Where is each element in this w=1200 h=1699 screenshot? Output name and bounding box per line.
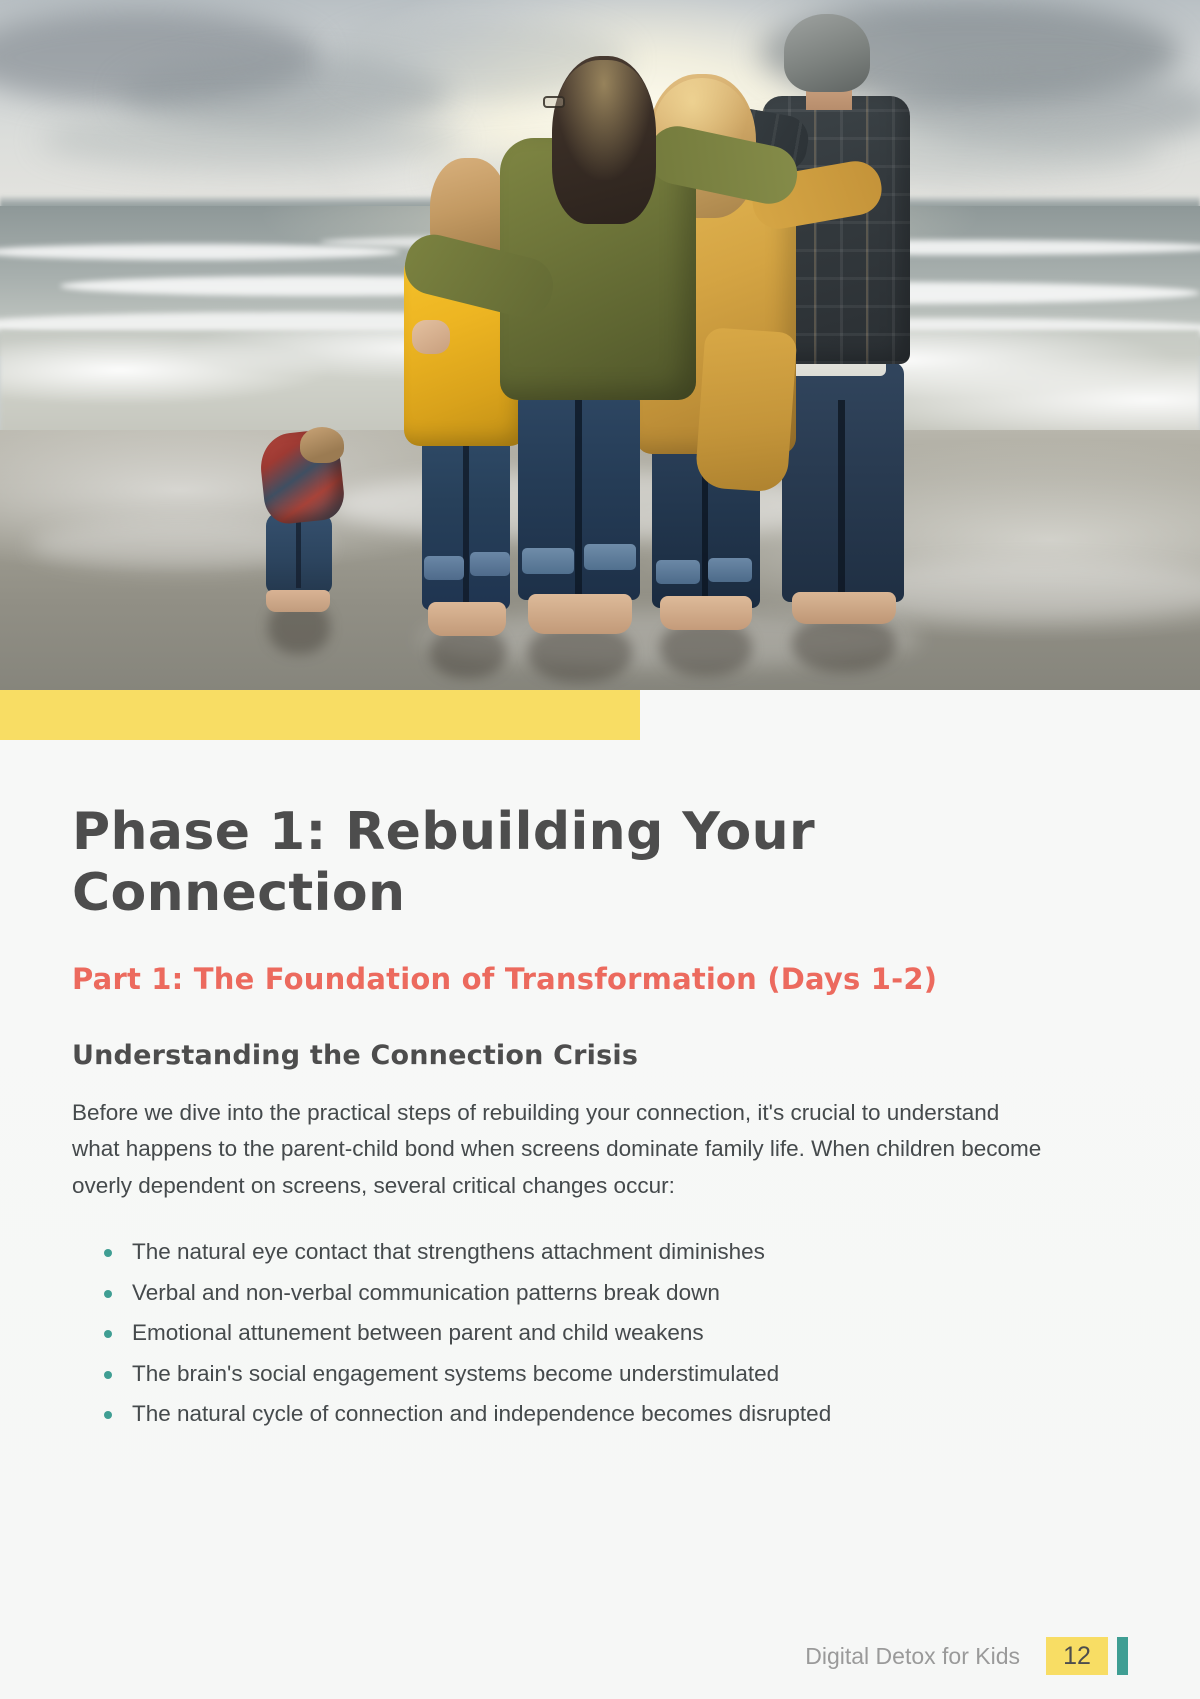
mother-leg-gap xyxy=(575,394,582,594)
girl-mustard-cuff-right xyxy=(708,558,752,582)
mother-feet xyxy=(528,594,632,634)
father-feet xyxy=(792,592,896,624)
girl-yellow-cuff-left xyxy=(424,556,464,580)
list-item: Emotional attunement between parent and … xyxy=(96,1315,1128,1351)
wave-crest xyxy=(0,244,400,260)
page-title: Phase 1: Rebuilding Your Connection xyxy=(72,802,1128,925)
list-item: The natural cycle of connection and inde… xyxy=(96,1396,1128,1432)
yellow-accent-bar xyxy=(0,690,640,740)
child-crouching-hair xyxy=(300,427,344,463)
page-subtitle: Part 1: The Foundation of Transformation… xyxy=(72,961,1128,998)
father-leg-gap xyxy=(838,400,845,596)
mother-hair-backlight xyxy=(556,60,652,180)
document-page: Phase 1: Rebuilding Your Connection Part… xyxy=(0,0,1200,1699)
mother-cuff-right xyxy=(584,544,636,570)
figure-reflection xyxy=(792,616,896,672)
father-hair xyxy=(784,14,870,92)
girl-mustard-cuff-left xyxy=(656,560,700,584)
child-crouching-leg-gap xyxy=(296,516,301,588)
list-item: The brain's social engagement systems be… xyxy=(96,1356,1128,1392)
girl-yellow-cuff-right xyxy=(470,552,510,576)
list-item: Verbal and non-verbal communication patt… xyxy=(96,1275,1128,1311)
page-number-badge: 12 xyxy=(1046,1637,1108,1675)
cloud-shape xyxy=(40,110,460,170)
section-heading: Understanding the Connection Crisis xyxy=(72,1038,1128,1073)
teal-accent-mark xyxy=(1117,1637,1128,1675)
body-paragraph: Before we dive into the practical steps … xyxy=(72,1095,1048,1204)
bullet-list: The natural eye contact that strengthens… xyxy=(96,1234,1128,1432)
mother-cuff-left xyxy=(522,548,574,574)
footer-book-title: Digital Detox for Kids xyxy=(805,1643,1020,1670)
girl-mustard-feet xyxy=(660,596,752,630)
mother-hand-left xyxy=(412,320,450,354)
mother-glasses xyxy=(543,96,565,108)
girl-yellow-leg-gap xyxy=(463,436,469,604)
page-content: Phase 1: Rebuilding Your Connection Part… xyxy=(0,740,1200,1436)
girl-yellow-feet xyxy=(428,602,506,636)
child-crouching-feet xyxy=(266,590,330,612)
hero-photo xyxy=(0,0,1200,690)
list-item: The natural eye contact that strengthens… xyxy=(96,1234,1128,1270)
girl-mustard-cardigan-drape xyxy=(695,327,798,493)
page-footer: Digital Detox for Kids 12 xyxy=(0,1637,1200,1675)
